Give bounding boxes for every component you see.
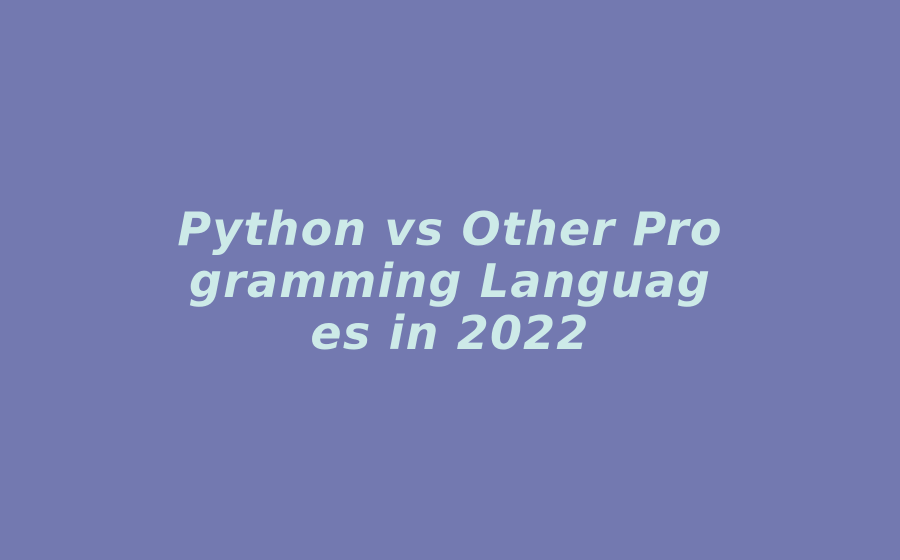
page-title: Python vs Other Programming Languages in… <box>173 203 727 359</box>
social-preview-card: Python vs Other Programming Languages in… <box>0 0 900 560</box>
title-block: Python vs Other Programming Languages in… <box>173 203 727 359</box>
